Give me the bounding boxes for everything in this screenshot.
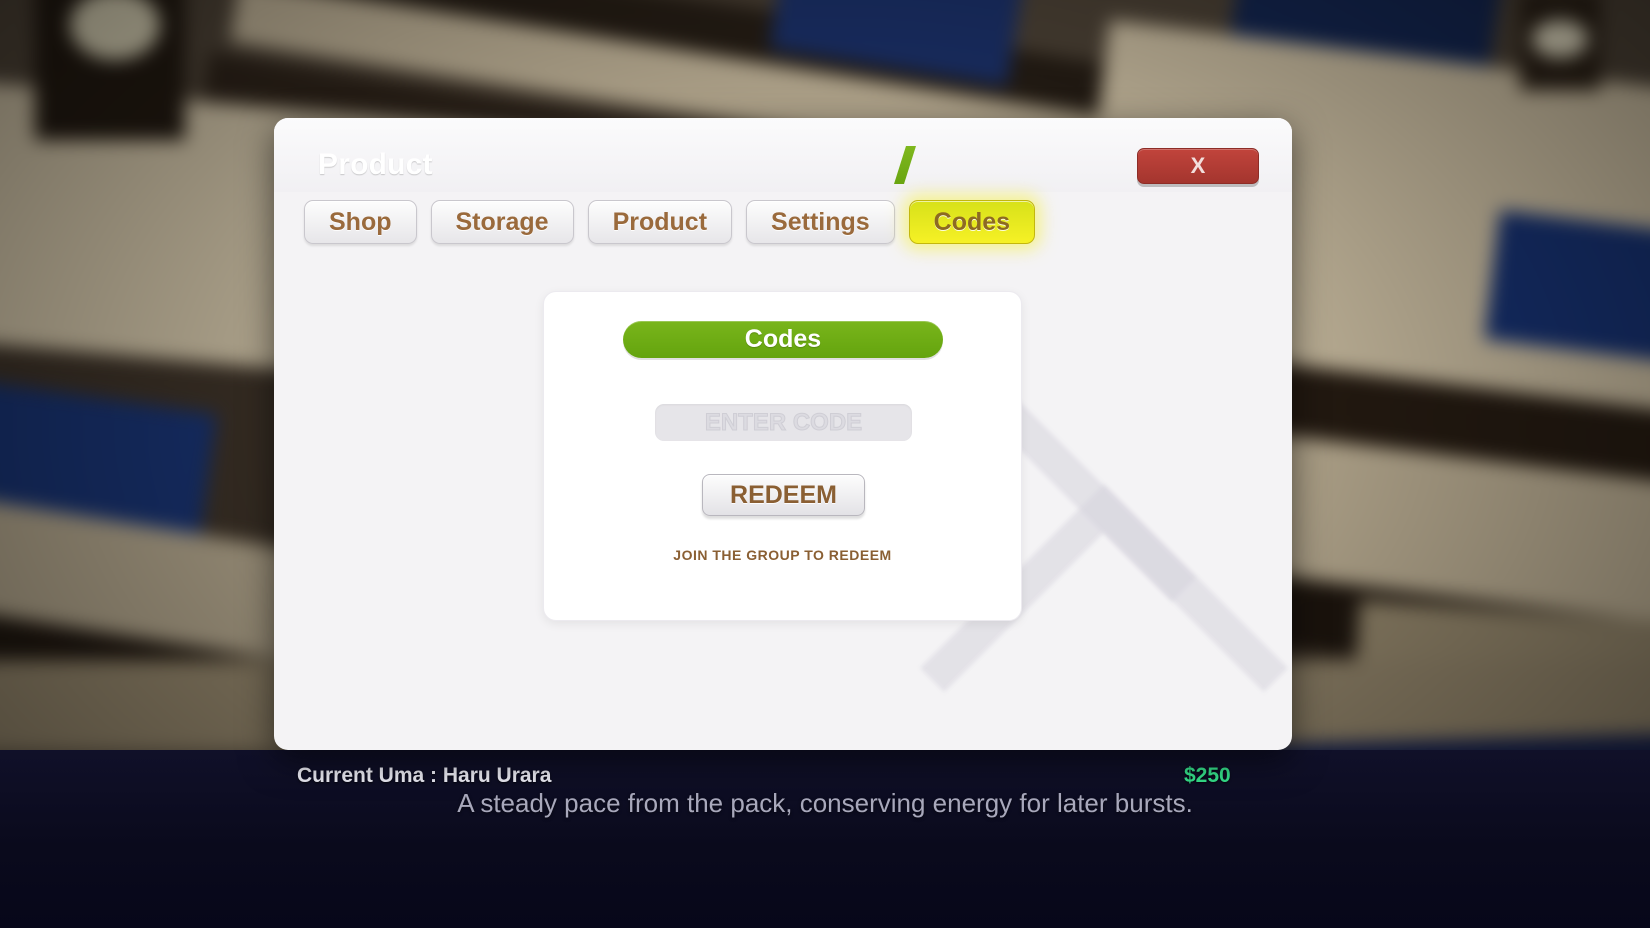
tab-storage[interactable]: Storage	[431, 200, 574, 244]
codes-card: Codes REDEEM JOIN THE GROUP TO REDEEM	[543, 291, 1022, 621]
close-button[interactable]: X	[1137, 148, 1259, 184]
tab-settings[interactable]: Settings	[746, 200, 895, 244]
tab-codes[interactable]: Codes	[909, 200, 1035, 244]
product-modal-window: Product X Shop Storage Product Settings …	[274, 118, 1292, 750]
code-input[interactable]	[655, 404, 912, 441]
tab-shop[interactable]: Shop	[304, 200, 417, 244]
tab-product[interactable]: Product	[588, 200, 732, 244]
page-title: Product	[318, 147, 433, 183]
tab-bar: Shop Storage Product Settings Codes	[274, 200, 1292, 244]
current-uma-label: Current Uma : Haru Urara	[297, 764, 551, 788]
join-group-note: JOIN THE GROUP TO REDEEM	[544, 547, 1021, 563]
redeem-button[interactable]: REDEEM	[702, 474, 865, 516]
uma-description: A steady pace from the pack, conserving …	[0, 788, 1650, 819]
money-counter: $250	[1184, 764, 1231, 788]
codes-card-title: Codes	[623, 321, 943, 358]
bottom-hud: Current Uma : Haru Urara $250 A steady p…	[0, 750, 1650, 928]
